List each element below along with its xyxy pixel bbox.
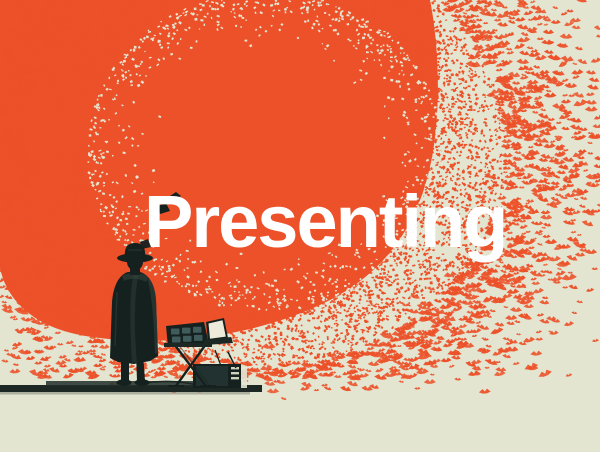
shoe-right [135,379,150,385]
poster-artwork: Presenting [0,0,600,452]
illustration-canvas: Presenting [0,0,600,452]
page-title: Presenting [144,180,506,263]
shoe-left [117,379,132,385]
